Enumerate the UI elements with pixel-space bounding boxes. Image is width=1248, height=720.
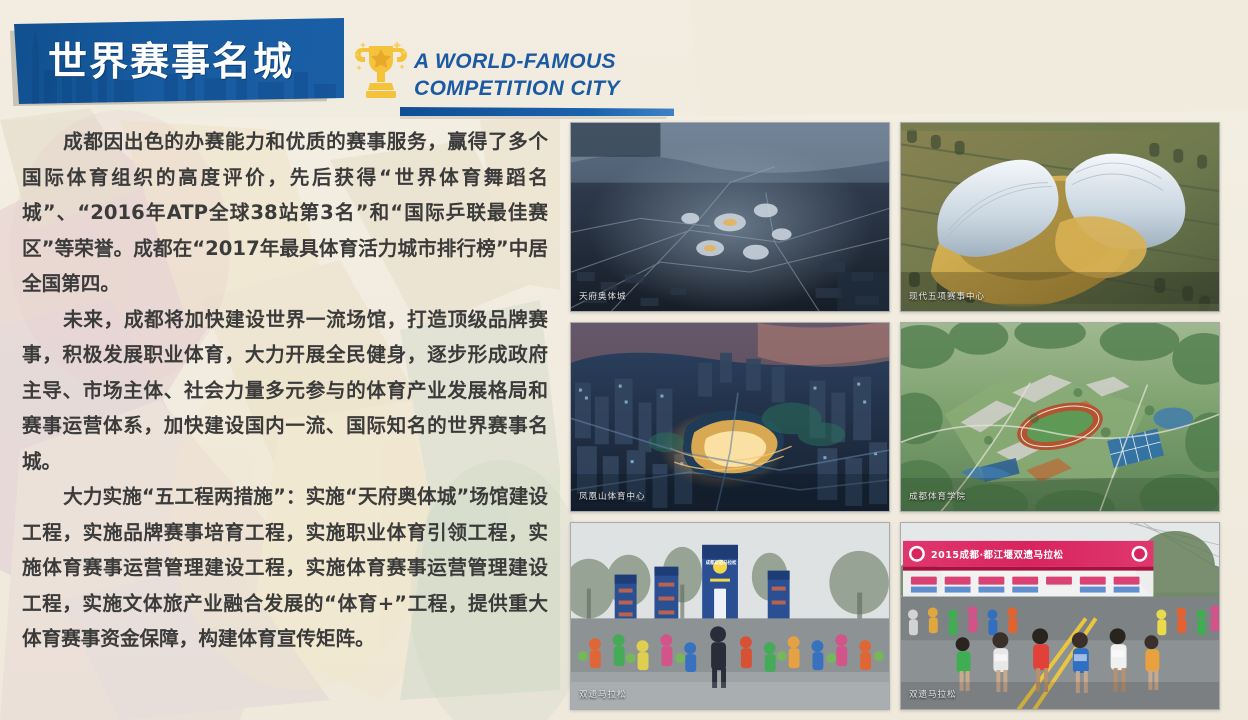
- subtitle-line-2: COMPETITION CITY: [414, 75, 620, 102]
- page-header: 世界赛事名城 A WORLD-FAMOUS COMPETITION CITY: [0, 14, 700, 118]
- article-paragraph: 成都因出色的办赛能力和优质的赛事服务，赢得了多个国际体育组织的高度评价，先后获得…: [22, 124, 548, 302]
- article-body: 成都因出色的办赛能力和优质的赛事服务，赢得了多个国际体育组织的高度评价，先后获得…: [22, 124, 548, 657]
- photo-caption: 天府奥体城: [579, 290, 627, 302]
- page-subtitle: A WORLD-FAMOUS COMPETITION CITY: [414, 48, 620, 102]
- gallery-photo[interactable]: 2015成都·都江堰双遗马拉松 双遗马拉松: [900, 522, 1220, 710]
- gallery-photo[interactable]: 成都双遗马拉松 双遗马拉松: [570, 522, 890, 710]
- article-paragraph: 未来，成都将加快建设世界一流场馆，打造顶级品牌赛事，积极发展职业体育，大力开展全…: [22, 302, 548, 480]
- photo-gallery: 天府奥体城: [570, 122, 1230, 710]
- photo-artwork: [901, 123, 1219, 312]
- photo-artwork: [571, 123, 889, 312]
- photo-arch-banner-text: 2015成都·都江堰双遗马拉松: [931, 547, 1064, 561]
- photo-caption: 凤凰山体育中心: [579, 490, 646, 502]
- photo-caption: 双遗马拉松: [579, 688, 627, 700]
- article-paragraph: 大力实施“五工程两措施”：实施“天府奥体城”场馆建设工程，实施品牌赛事培育工程，…: [22, 479, 548, 657]
- header-title-plate: 世界赛事名城: [14, 18, 344, 104]
- photo-caption: 成都体育学院: [909, 490, 966, 502]
- photo-artwork: [571, 523, 889, 710]
- photo-artwork: [571, 323, 889, 512]
- photo-artwork: [901, 323, 1219, 512]
- photo-gate-banner-text: 成都双遗马拉松: [703, 561, 739, 567]
- gallery-photo[interactable]: 凤凰山体育中心: [570, 322, 890, 512]
- trophy-icon: [352, 38, 410, 104]
- photo-caption: 现代五项赛事中心: [909, 290, 985, 302]
- subtitle-line-1: A WORLD-FAMOUS: [414, 48, 620, 75]
- gallery-photo[interactable]: 成都体育学院: [900, 322, 1220, 512]
- page-title: 世界赛事名城: [48, 42, 344, 84]
- photo-caption: 双遗马拉松: [909, 688, 957, 700]
- gallery-photo[interactable]: 现代五项赛事中心: [900, 122, 1220, 312]
- gallery-photo[interactable]: 天府奥体城: [570, 122, 890, 312]
- header-rule: [400, 107, 674, 116]
